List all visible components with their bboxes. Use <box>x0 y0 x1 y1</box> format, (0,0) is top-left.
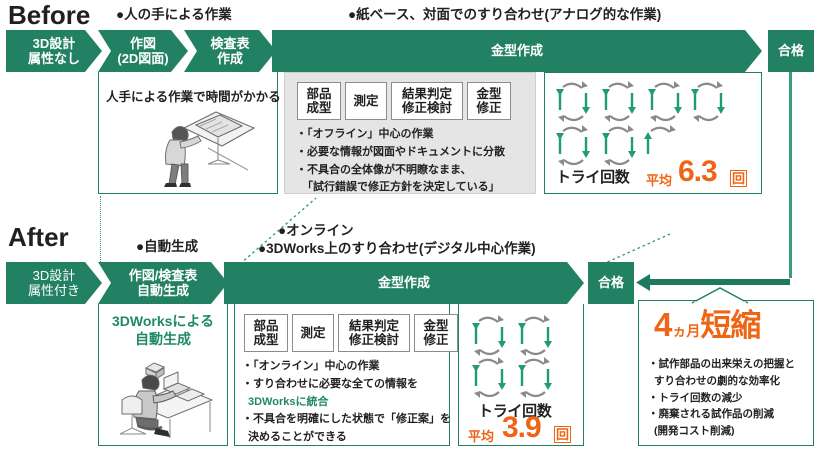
after-chip-measurement-line1: 測定 <box>300 326 325 340</box>
result-headline-text: 短縮 <box>700 308 760 343</box>
before-step-inspection-sheet-line1: 検査表 <box>210 36 249 51</box>
before-chip-result-judgment-line1: 結果判定 <box>402 87 452 101</box>
before-loop-icons <box>552 78 758 166</box>
before-step-inspection-sheet-line2: 作成 <box>210 51 249 66</box>
before-chip-part-molding-line2: 成型 <box>306 101 331 115</box>
before-try-value: 6.3 <box>678 158 717 185</box>
after-pass-box[interactable]: 合格 <box>588 262 634 304</box>
before-chip-part-molding: 部品 成型 <box>297 82 341 120</box>
after-try-value: 3.9 <box>502 414 541 441</box>
after-step-mold-creation[interactable]: 金型作成 <box>224 262 584 304</box>
after-bullet-2: 3DWorksに統合 <box>242 394 452 412</box>
after-chip-part-molding-line2: 成型 <box>253 333 278 347</box>
after-bullet-1: ・すり合わせに必要な全ての情報を <box>242 376 452 394</box>
after-bullet-list: ・「オンライン」中心の作業 ・すり合わせに必要な全ての情報を 3DWorksに統… <box>242 358 452 447</box>
before-header-1: ●人の手による作業 <box>116 6 232 24</box>
after-step-3d-design-line1: 3D設計 <box>28 268 80 283</box>
before-step-drawing-line1: 作図 <box>117 36 168 51</box>
after-step-auto-generate-line1: 作図/検査表 <box>129 268 198 283</box>
after-try-unit: 回 <box>554 426 571 443</box>
before-chip-part-molding-line1: 部品 <box>306 87 331 101</box>
result-bullet-list: ・試作部品の出来栄えの把握と すり合わせの劇的な効率化 ・トライ回数の減少 ・廃… <box>648 356 812 440</box>
result-headline: 4ヵ月短縮 <box>654 308 760 341</box>
after-loop-icons <box>468 312 578 404</box>
before-step-3d-design[interactable]: 3D設計 属性なし <box>6 30 102 72</box>
before-bullet-2: ・不具合の全体像が不明瞭なまま、 <box>296 162 536 180</box>
before-try-unit: 回 <box>730 170 747 187</box>
result-month-unit: ヵ月 <box>672 323 700 339</box>
after-chip-result-judgment-line1: 結果判定 <box>349 319 399 333</box>
before-chip-measurement-line1: 測定 <box>353 94 378 108</box>
before-bullet-3: 「試行錯誤で修正方針を決定している」 <box>296 179 536 197</box>
before-bullet-0: ・「オフライン」中心の作業 <box>296 126 536 144</box>
after-illustration-desk <box>112 356 216 440</box>
after-caption-line1: 3DWorksによる <box>100 312 226 330</box>
after-step-auto-generate[interactable]: 作図/検査表 自動生成 <box>98 262 228 304</box>
after-pass-label: 合格 <box>598 275 624 290</box>
before-pass-box[interactable]: 合格 <box>768 30 814 72</box>
after-bullet-3: ・不具合を明確にした状態で「修正案」を <box>242 411 452 429</box>
after-chip-measurement: 測定 <box>292 314 334 352</box>
before-step-mold-creation[interactable]: 金型作成 <box>272 30 762 72</box>
before-step-inspection-sheet[interactable]: 検査表 作成 <box>184 30 276 72</box>
after-try-avg-label: 平均 <box>468 426 494 445</box>
before-chip-mold-fix-line2: 修正 <box>476 101 501 115</box>
before-step-mold-creation-label: 金型作成 <box>491 43 543 58</box>
before-section-label: Before <box>8 2 90 28</box>
after-chip-part-molding: 部品 成型 <box>244 314 288 352</box>
before-caption: 人手による作業で時間がかかる <box>106 86 281 105</box>
after-bullet-4: 決めることができる <box>242 429 452 447</box>
result-bullet-4: (開発コスト削減) <box>648 423 812 440</box>
result-card-callout-notch <box>690 286 750 304</box>
dotted-connector-vertical <box>100 196 101 262</box>
before-bullet-1: ・必要な情報が図面やドキュメントに分散 <box>296 144 536 162</box>
after-bullet-0: ・「オンライン」中心の作業 <box>242 358 452 376</box>
result-bullet-2: ・トライ回数の減少 <box>648 390 812 407</box>
before-chip-mold-fix-line1: 金型 <box>476 87 501 101</box>
result-bullet-1: すり合わせの劇的な効率化 <box>648 373 812 390</box>
dotted-connector-diagonal <box>238 196 328 266</box>
after-chip-mold-fix-line2: 修正 <box>423 333 448 347</box>
after-chip-part-molding-line1: 部品 <box>253 319 278 333</box>
before-chip-result-judgment-line2: 修正検討 <box>402 101 452 115</box>
after-step-auto-generate-line2: 自動生成 <box>129 283 198 298</box>
before-chip-measurement: 測定 <box>345 82 387 120</box>
after-chip-mold-fix: 金型 修正 <box>414 314 458 352</box>
before-step-drawing-line2: (2D図面) <box>117 51 168 66</box>
before-pass-connector-vertical <box>789 72 792 278</box>
after-section-label: After <box>8 224 69 250</box>
after-caption-line2: 自動生成 <box>100 330 226 348</box>
after-step-3d-design-line2: 属性付き <box>28 283 80 298</box>
before-chip-result-judgment: 結果判定 修正検討 <box>391 82 463 120</box>
after-chip-result-judgment: 結果判定 修正検討 <box>338 314 410 352</box>
before-try-label: トライ回数 <box>556 166 630 187</box>
before-bullet-list: ・「オフライン」中心の作業 ・必要な情報が図面やドキュメントに分散 ・不具合の全… <box>296 126 536 197</box>
result-bullet-0: ・試作部品の出来栄えの把握と <box>648 356 812 373</box>
result-bullet-3: ・廃棄される試作品の削減 <box>648 406 812 423</box>
before-step-3d-design-line1: 3D設計 <box>28 36 80 51</box>
after-caption: 3DWorksによる 自動生成 <box>100 312 226 348</box>
after-chip-result-judgment-line2: 修正検討 <box>349 333 399 347</box>
after-step-mold-creation-label: 金型作成 <box>378 275 430 290</box>
before-step-3d-design-line2: 属性なし <box>28 51 80 66</box>
after-chip-mold-fix-line1: 金型 <box>423 319 448 333</box>
before-illustration-drafting <box>150 106 260 188</box>
before-header-2: ●紙ベース、対面でのすり合わせ(アナログ的な作業) <box>348 6 661 24</box>
after-step-3d-design[interactable]: 3D設計 属性付き <box>6 262 102 304</box>
before-step-drawing[interactable]: 作図 (2D図面) <box>98 30 188 72</box>
result-number: 4 <box>654 306 672 343</box>
before-chip-mold-fix: 金型 修正 <box>467 82 511 120</box>
after-header-1: ●自動生成 <box>136 238 198 256</box>
before-pass-label: 合格 <box>778 43 804 58</box>
before-try-avg-label: 平均 <box>646 170 672 189</box>
